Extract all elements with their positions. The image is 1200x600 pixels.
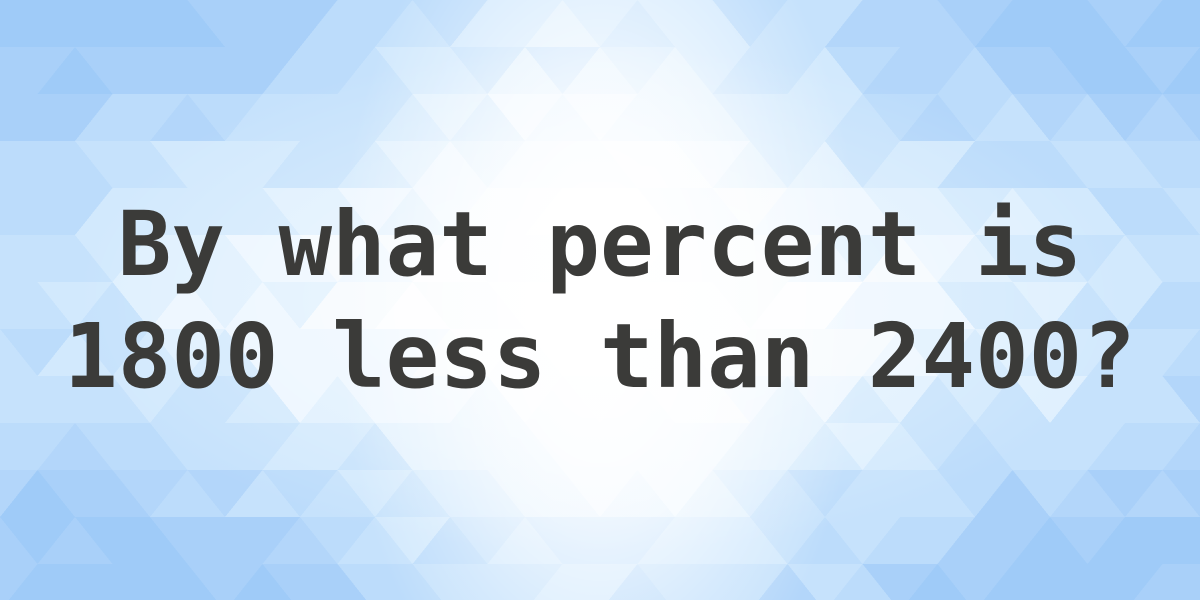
- question-text-block: By what percent is 1800 less than 2400?: [0, 0, 1200, 600]
- question-line-1: By what percent is: [118, 188, 1083, 300]
- question-card: By what percent is 1800 less than 2400?: [0, 0, 1200, 600]
- question-line-2: 1800 less than 2400?: [64, 300, 1136, 412]
